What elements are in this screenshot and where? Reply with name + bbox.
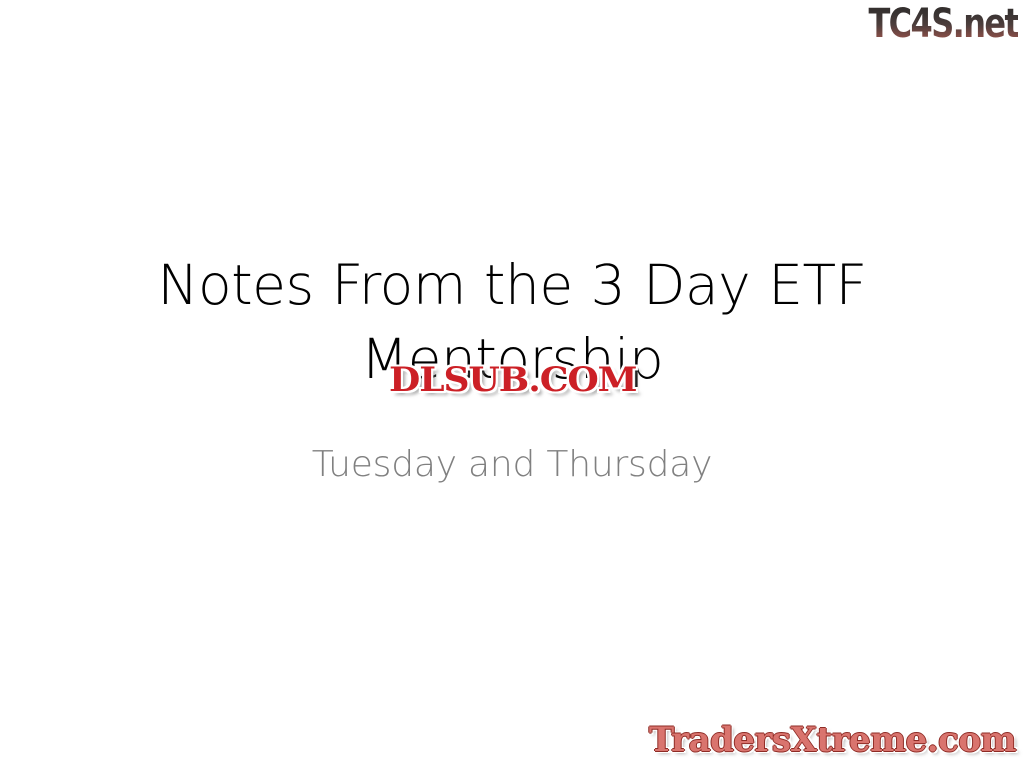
slide-title-line-1: Notes From the 3 Day ETF [102,248,922,322]
tradersxtreme-watermark: TradersXtreme.com [649,720,1016,760]
dlsub-watermark-text: DLSUB.COM [389,362,636,398]
slide-subtitle: Tuesday and Thursday [102,442,922,488]
tc4s-watermark-logo: TC4S.net [868,2,1018,46]
tradersxtreme-watermark-text: TradersXtreme.com [649,720,1016,760]
slide-subtitle-text: Tuesday and Thursday [102,442,922,488]
dlsub-watermark: DLSUB.COM [366,358,660,402]
presentation-slide: TC4S.net Notes From the 3 Day ETF Mentor… [0,0,1024,768]
